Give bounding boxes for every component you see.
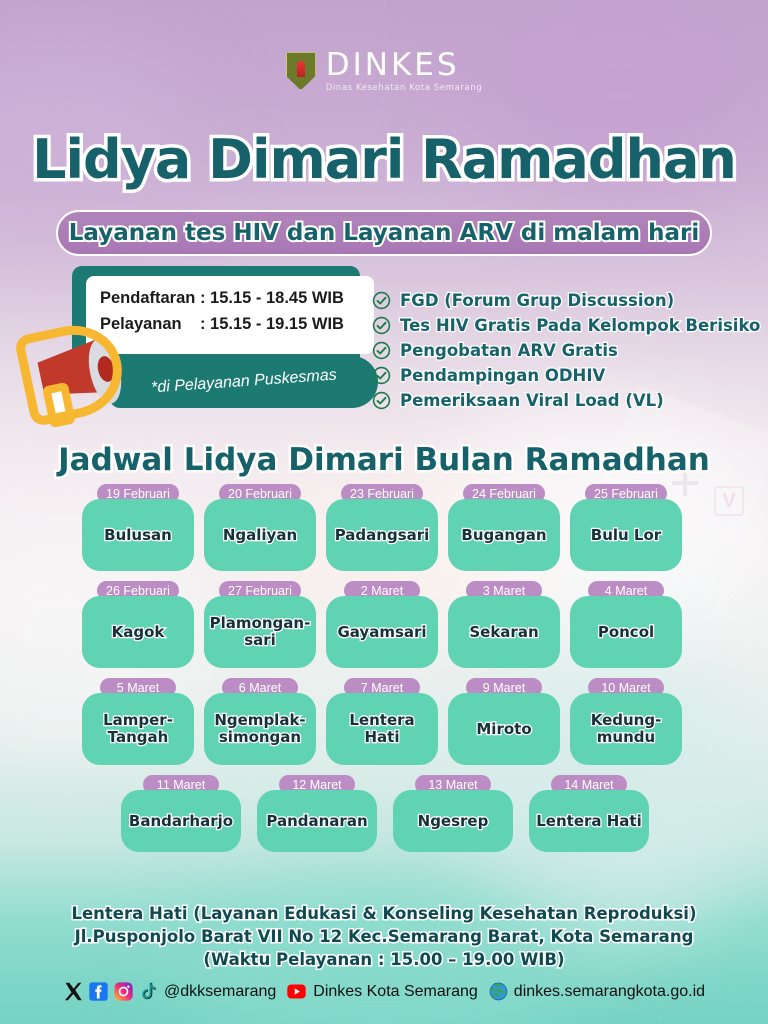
- service-label: FGD (Forum Grup Discussion): [400, 291, 674, 310]
- service-label: Pemeriksaan Viral Load (VL): [400, 391, 664, 410]
- location-label: Bulu Lor: [591, 527, 661, 544]
- location-label: Plamongan-sari: [210, 615, 311, 649]
- logo-wordmark: DINKES: [326, 50, 483, 81]
- location-label: Lentera Hati: [536, 813, 641, 830]
- puskesmas-note-text: *di Pelayanan Puskesmas: [151, 367, 338, 398]
- date-badge: 24 Februari: [463, 484, 545, 503]
- location-label: Miroto: [476, 721, 531, 738]
- schedule-row: 11 Maret Bandarharjo 12 Maret Pandanaran…: [82, 775, 688, 852]
- schedule-heading: Jadwal Lidya Dimari Bulan Ramadhan: [0, 442, 768, 478]
- footer-address: Lentera Hati (Layanan Edukasi & Konselin…: [0, 903, 768, 971]
- social-media-bar: @dkksemarang Dinkes Kota Semarang dinkes…: [0, 981, 768, 1002]
- circle-check-icon: [372, 291, 391, 310]
- circle-check-icon: [372, 391, 391, 410]
- schedule-cell: 12 Maret Pandanaran: [257, 775, 377, 852]
- location-card: Ngesrep: [393, 790, 513, 852]
- date-badge: 23 Februari: [341, 484, 423, 503]
- schedule-grid: 19 Februari Bulusan 20 Februari Ngaliyan…: [82, 484, 688, 862]
- globe-icon[interactable]: [488, 981, 509, 1002]
- location-card: Poncol: [570, 596, 682, 668]
- registration-time: Pendaftaran : 15.15 - 18.45 WIB: [100, 286, 374, 312]
- list-item: Pemeriksaan Viral Load (VL): [372, 388, 760, 413]
- circle-check-icon: [372, 341, 391, 360]
- page-title: Lidya Dimari Ramadhan: [0, 128, 768, 191]
- subtitle-banner: Layanan tes HIV dan Layanan ARV di malam…: [56, 210, 712, 256]
- footer-line-1: Lentera Hati (Layanan Edukasi & Konselin…: [0, 903, 768, 926]
- location-card: Padangsari: [326, 499, 438, 571]
- social-handle[interactable]: @dkksemarang: [164, 983, 276, 1001]
- location-label: Ngemplak-simongan: [214, 712, 305, 746]
- schedule-cell: 11 Maret Bandarharjo: [121, 775, 241, 852]
- megaphone-icon: [18, 322, 138, 434]
- schedule-row: 5 Maret Lamper-Tangah 6 Maret Ngemplak-s…: [82, 678, 688, 765]
- location-label: Sekaran: [469, 624, 538, 641]
- puskesmas-note-banner: *di Pelayanan Puskesmas: [110, 356, 378, 408]
- schedule-cell: 13 Maret Ngesrep: [393, 775, 513, 852]
- x-twitter-icon[interactable]: [63, 981, 84, 1002]
- schedule-cell: 10 Maret Kedung-mundu: [570, 678, 682, 765]
- date-badge: 19 Februari: [97, 484, 179, 503]
- location-card: Bulu Lor: [570, 499, 682, 571]
- tiktok-icon[interactable]: [138, 981, 159, 1002]
- schedule-cell: 24 Februari Bugangan: [448, 484, 560, 571]
- website-label[interactable]: dinkes.semarangkota.go.id: [514, 983, 705, 1001]
- service-label: Pendampingan ODHIV: [400, 366, 605, 385]
- location-card: Gayamsari: [326, 596, 438, 668]
- location-label: Poncol: [598, 624, 654, 641]
- location-label: Pandanaran: [266, 813, 367, 830]
- location-label: Ngesrep: [418, 813, 489, 830]
- location-card: Ngaliyan: [204, 499, 316, 571]
- location-card: Lentera Hati: [529, 790, 649, 852]
- schedule-cell: 25 Februari Bulu Lor: [570, 484, 682, 571]
- location-card: Bulusan: [82, 499, 194, 571]
- date-badge: 27 Februari: [219, 581, 301, 600]
- schedule-cell: 4 Maret Poncol: [570, 581, 682, 668]
- poster-canvas: V DINKES Dinas Kesehatan Kota Semarang L…: [0, 0, 768, 1024]
- schedule-row: 19 Februari Bulusan 20 Februari Ngaliyan…: [82, 484, 688, 571]
- service-label: Pengobatan ARV Gratis: [400, 341, 618, 360]
- checkbox-watermark-icon: V: [714, 486, 744, 516]
- schedule-cell: 9 Maret Miroto: [448, 678, 560, 765]
- footer-line-3: (Waktu Pelayanan : 15.00 – 19.00 WIB): [0, 949, 768, 972]
- location-card: Ngemplak-simongan: [204, 693, 316, 765]
- location-card: Pandanaran: [257, 790, 377, 852]
- service-label: Tes HIV Gratis Pada Kelompok Berisiko: [400, 316, 760, 335]
- location-label: Bandarharjo: [129, 813, 233, 830]
- location-card: Plamongan-sari: [204, 596, 316, 668]
- location-card: Lentera Hati: [326, 693, 438, 765]
- list-item: Pendampingan ODHIV: [372, 363, 760, 388]
- location-label: Bulusan: [104, 527, 172, 544]
- date-badge: 20 Februari: [219, 484, 301, 503]
- date-badge: 26 Februari: [97, 581, 179, 600]
- schedule-cell: 20 Februari Ngaliyan: [204, 484, 316, 571]
- youtube-icon[interactable]: [286, 981, 307, 1002]
- schedule-cell: 27 Februari Plamongan-sari: [204, 581, 316, 668]
- schedule-cell: 2 Maret Gayamsari: [326, 581, 438, 668]
- location-label: Padangsari: [335, 527, 430, 544]
- location-label: Bugangan: [461, 527, 546, 544]
- location-card: Lamper-Tangah: [82, 693, 194, 765]
- location-card: Miroto: [448, 693, 560, 765]
- location-label: Kedung-mundu: [591, 712, 662, 746]
- date-badge: 25 Februari: [585, 484, 667, 503]
- location-card: Kagok: [82, 596, 194, 668]
- logo-tagline: Dinas Kesehatan Kota Semarang: [326, 84, 483, 93]
- schedule-cell: 23 Februari Padangsari: [326, 484, 438, 571]
- schedule-cell: 3 Maret Sekaran: [448, 581, 560, 668]
- semarang-city-shield-icon: [286, 52, 316, 90]
- schedule-cell: 6 Maret Ngemplak-simongan: [204, 678, 316, 765]
- location-label: Kagok: [112, 624, 165, 641]
- location-label: Gayamsari: [337, 624, 426, 641]
- footer-line-2: Jl.Pusponjolo Barat VII No 12 Kec.Semara…: [0, 926, 768, 949]
- location-label: Ngaliyan: [223, 527, 297, 544]
- list-item: Pengobatan ARV Gratis: [372, 338, 760, 363]
- location-card: Sekaran: [448, 596, 560, 668]
- schedule-cell: 19 Februari Bulusan: [82, 484, 194, 571]
- schedule-cell: 5 Maret Lamper-Tangah: [82, 678, 194, 765]
- instagram-icon[interactable]: [113, 981, 134, 1002]
- services-checklist: FGD (Forum Grup Discussion) Tes HIV Grat…: [372, 288, 760, 413]
- location-card: Bandarharjo: [121, 790, 241, 852]
- service-time: Pelayanan : 15.15 - 19.15 WIB: [100, 312, 374, 338]
- location-label: Lentera Hati: [330, 712, 434, 746]
- location-label: Lamper-Tangah: [103, 712, 173, 746]
- schedule-cell: 14 Maret Lentera Hati: [529, 775, 649, 852]
- subtitle-text: Layanan tes HIV dan Layanan ARV di malam…: [69, 220, 699, 246]
- list-item: FGD (Forum Grup Discussion): [372, 288, 760, 313]
- schedule-cell: 7 Maret Lentera Hati: [326, 678, 438, 765]
- dinkes-logo: DINKES Dinas Kesehatan Kota Semarang: [0, 50, 768, 93]
- youtube-channel-label[interactable]: Dinkes Kota Semarang: [313, 983, 478, 1001]
- location-card: Kedung-mundu: [570, 693, 682, 765]
- circle-check-icon: [372, 366, 391, 385]
- circle-check-icon: [372, 316, 391, 335]
- list-item: Tes HIV Gratis Pada Kelompok Berisiko: [372, 313, 760, 338]
- facebook-icon[interactable]: [88, 981, 109, 1002]
- schedule-row: 26 Februari Kagok 27 Februari Plamongan-…: [82, 581, 688, 668]
- location-card: Bugangan: [448, 499, 560, 571]
- schedule-cell: 26 Februari Kagok: [82, 581, 194, 668]
